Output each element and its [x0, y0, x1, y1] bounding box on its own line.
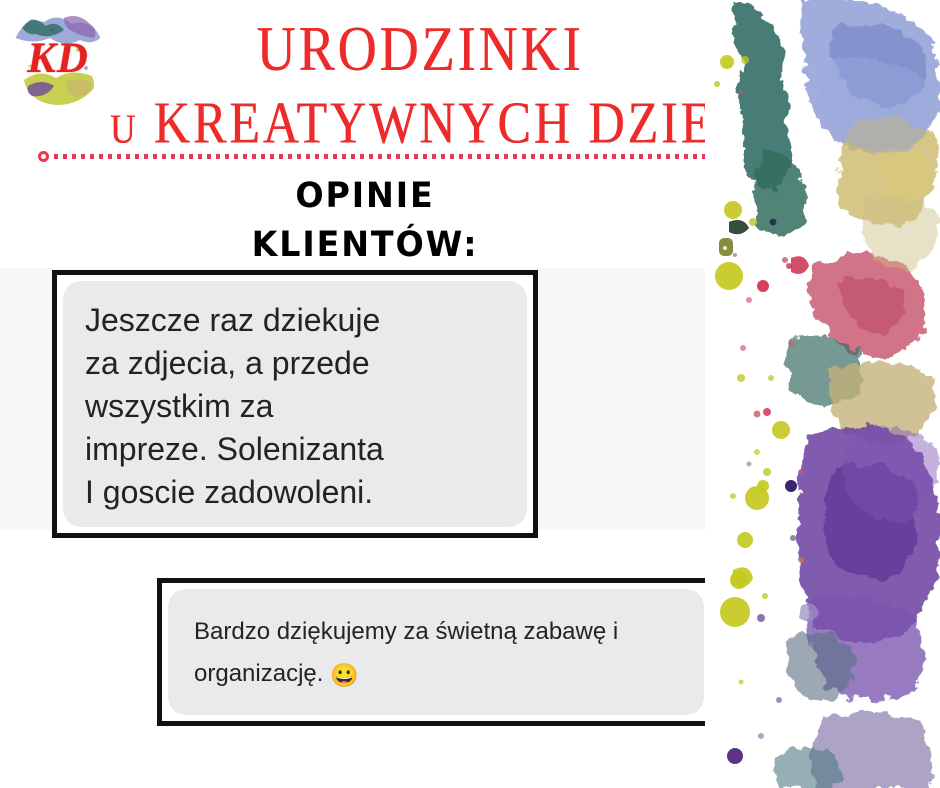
smiley-face-icon: 😀: [330, 662, 359, 688]
divider-dots: [54, 154, 718, 159]
section-heading: OPINIE KLIENTÓW:: [150, 172, 580, 270]
title-line-1: URODZINKI: [110, 12, 730, 85]
section-heading-line-1: OPINIE: [161, 172, 570, 221]
testimonial-body: Bardzo dziękujemy za świetną zabawę i or…: [194, 618, 618, 687]
poster-canvas: KD URODZINKI u KREATYWNYCH DZIECI OPINIE…: [0, 0, 940, 788]
circle-outline-icon: [38, 151, 49, 162]
testimonial-text: Bardzo dziękujemy za świetną zabawę i or…: [194, 611, 690, 696]
poster-title: URODZINKI u KREATYWNYCH DZIECI: [110, 12, 730, 146]
dotted-divider: [38, 150, 718, 166]
splatter-dots: [714, 55, 819, 764]
section-heading-line-2: KLIENTÓW:: [161, 221, 570, 270]
message-bubble: Bardzo dziękujemy za świetną zabawę i or…: [168, 589, 704, 715]
testimonial-card: Bardzo dziękujemy za świetną zabawę i or…: [157, 578, 715, 726]
testimonial-card: Jeszcze raz dziekuje za zdjecia, a przed…: [52, 270, 538, 538]
title-line-2: u KREATYWNYCH DZIECI: [110, 88, 730, 156]
brand-logo-text: KD: [6, 6, 110, 110]
testimonial-text: Jeszcze raz dziekuje za zdjecia, a przed…: [85, 299, 505, 514]
message-bubble: Jeszcze raz dziekuje za zdjecia, a przed…: [63, 281, 527, 527]
brand-logo: KD: [6, 6, 110, 110]
